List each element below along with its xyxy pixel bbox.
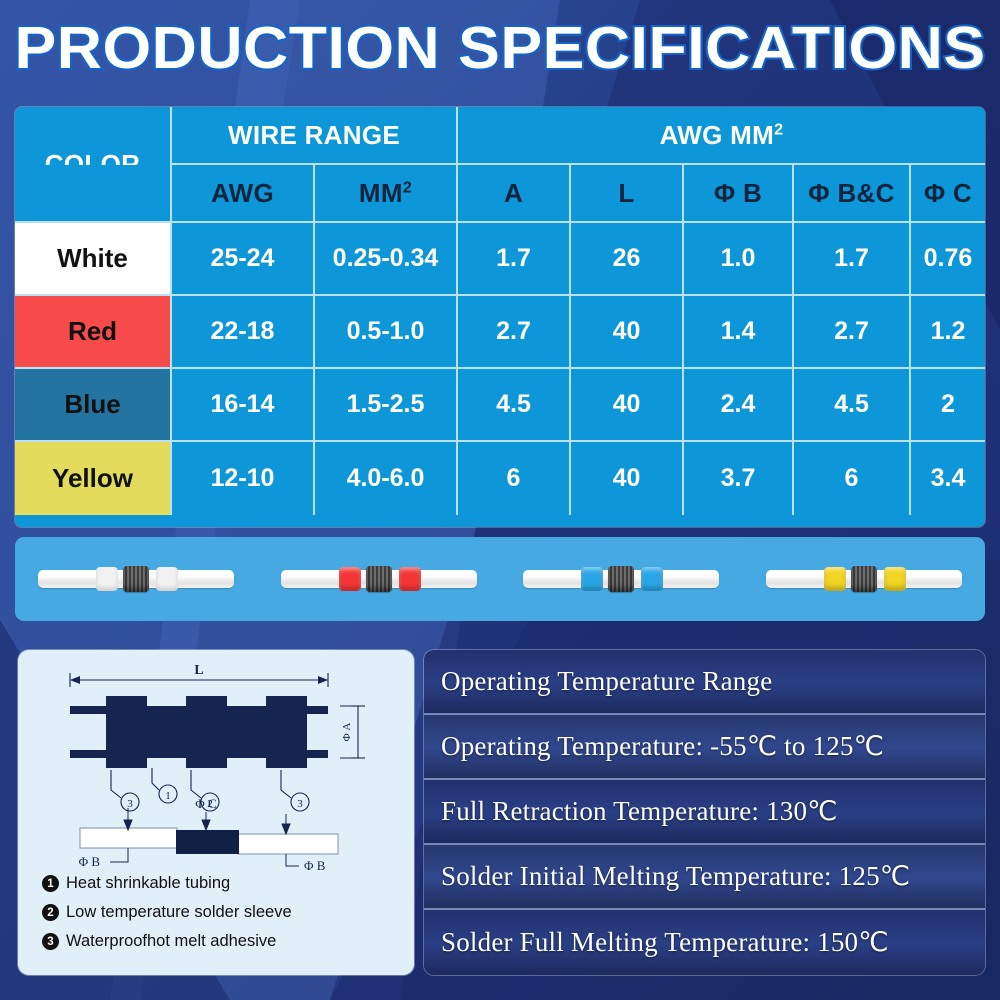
legend-item-label: Low temperature solder sleeve [66, 903, 292, 922]
table-cell-phi-bc: 2.7 [794, 296, 911, 369]
table-cell-phi-bc: 6 [794, 442, 911, 515]
spec-row-label: Solder Full Melting Temperature: 150℃ [441, 927, 889, 958]
table-cell-awg: 12-10 [172, 442, 315, 515]
red-solder-seal-connector [281, 565, 477, 593]
temperature-spec-list: Operating Temperature RangeOperating Tem… [424, 650, 985, 975]
connector-color-band [156, 567, 178, 591]
diagram-label-phi-b-left: Φ B [79, 854, 101, 869]
header-cell-awg-mm2: AWG MM2 [458, 107, 985, 165]
table-cell-mm2: 1.5-2.5 [315, 369, 458, 442]
subheader-label-mm2: MM2 [359, 180, 412, 206]
table-cell-phi-c: 1.2 [911, 296, 985, 369]
connector-solder-ring [366, 566, 392, 592]
connector-color-band [824, 567, 846, 591]
connector-color-band [96, 567, 118, 591]
connector-solder-ring [123, 566, 149, 592]
header-label-awg-mm2: AWG MM2 [660, 120, 784, 151]
table-cell-phi-b: 1.0 [684, 223, 794, 296]
legend-item: 2Low temperature solder sleeve [42, 903, 402, 922]
diagram-label-phi-a: Φ A [341, 723, 353, 742]
color-swatch-label: Yellow [52, 463, 133, 494]
diagram-callout-3b: 3 [297, 798, 303, 810]
connector-solder-ring [851, 566, 877, 592]
spec-row-label: Full Retraction Temperature: 130℃ [441, 796, 838, 827]
subheader-label-awg: AWG [211, 180, 274, 206]
subheader-label-mm2-sup: 2 [403, 178, 412, 196]
subheader-label-phi-bc: Φ B&C [808, 180, 894, 206]
color-swatch-cell: Red [15, 296, 172, 369]
header-label-wire-range: WIRE RANGE [228, 120, 400, 151]
legend-item-label: Waterproofhot melt adhesive [66, 932, 276, 951]
subheader-cell-phi-b: Φ B [684, 165, 794, 223]
table-cell-mm2: 4.0-6.0 [315, 442, 458, 515]
solder-sleeve-diagram: L Φ A [18, 650, 414, 872]
table-row: Red22-180.5-1.02.7401.42.71.2 [15, 296, 985, 369]
page-title: PRODUCTION SPECIFICATIONS [0, 14, 1000, 82]
legend-number-badge: 2 [42, 904, 59, 921]
white-solder-seal-connector [38, 565, 234, 593]
table-cell-phi-b: 3.7 [684, 442, 794, 515]
color-swatch-cell: Blue [15, 369, 172, 442]
page-title-text: PRODUCTION SPECIFICATIONS [14, 14, 985, 82]
table-cell-l: 40 [571, 442, 684, 515]
table-cell-phi-bc: 4.5 [794, 369, 911, 442]
connector-tube-left [38, 570, 134, 588]
spec-row: Operating Temperature Range [424, 650, 985, 715]
connector-tube-right [381, 570, 477, 588]
subheader-label-a: A [504, 180, 523, 206]
connector-color-band [884, 567, 906, 591]
connector-color-band [339, 567, 361, 591]
table-cell-l: 40 [571, 296, 684, 369]
blue-solder-seal-connector [523, 565, 719, 593]
legend-number-badge: 1 [42, 875, 59, 892]
color-swatch-cell: Yellow [15, 442, 172, 515]
spec-row-label: Operating Temperature Range [441, 666, 772, 697]
table-cell-awg: 16-14 [172, 369, 315, 442]
technical-diagram-panel: L Φ A [18, 650, 414, 975]
connector-color-band [581, 567, 603, 591]
connector-tube-left [766, 570, 862, 588]
table-cell-a: 4.5 [458, 369, 571, 442]
table-header-row-1: COLOR WIRE RANGE AWG MM2 [15, 107, 985, 165]
subheader-label-phi-c: Φ C [924, 180, 972, 206]
diagram-label-phi-c: Φ C [195, 796, 216, 811]
subheader-cell-a: A [458, 165, 571, 223]
yellow-solder-seal-connector [766, 565, 962, 593]
color-swatch-label: White [57, 243, 128, 274]
table-cell-phi-b: 2.4 [684, 369, 794, 442]
connector-tube-right [866, 570, 962, 588]
legend-number-badge: 3 [42, 933, 59, 950]
diagram-callout-1: 1 [165, 790, 171, 802]
connector-image-strip [15, 537, 985, 621]
table-row: Yellow12-104.0-6.06403.763.4 [15, 442, 985, 515]
color-swatch-label: Red [68, 316, 117, 347]
table-cell-phi-c: 3.4 [911, 442, 985, 515]
table-cell-phi-c: 0.76 [911, 223, 985, 296]
diagram-label-length: L [194, 663, 203, 678]
subheader-cell-awg: AWG [172, 165, 315, 223]
connector-color-band [641, 567, 663, 591]
table-cell-phi-bc: 1.7 [794, 223, 911, 296]
subheader-label-mm2-text: MM [359, 178, 403, 208]
table-cell-l: 26 [571, 223, 684, 296]
table-cell-phi-c: 2 [911, 369, 985, 442]
legend-item: 1Heat shrinkable tubing [42, 874, 402, 893]
table-cell-awg: 25-24 [172, 223, 315, 296]
subheader-cell-phi-bc: Φ B&C [794, 165, 911, 223]
spec-row: Operating Temperature: -55℃ to 125℃ [424, 715, 985, 780]
table-cell-phi-b: 1.4 [684, 296, 794, 369]
table-cell-l: 40 [571, 369, 684, 442]
connector-tube-left [523, 570, 619, 588]
specification-table: COLOR WIRE RANGE AWG MM2 AWG MM2 A L [15, 107, 985, 527]
header-label-awg-mm2-sup: 2 [774, 120, 783, 138]
table-cell-a: 6 [458, 442, 571, 515]
table-row: Blue16-141.5-2.54.5402.44.52 [15, 369, 985, 442]
connector-tube-right [138, 570, 234, 588]
table-cell-awg: 22-18 [172, 296, 315, 369]
table-row: White25-240.25-0.341.7261.01.70.76 [15, 223, 985, 296]
legend-item: 3Waterproofhot melt adhesive [42, 932, 402, 951]
header-label-awg-mm2-text: AWG MM [660, 120, 774, 150]
connector-tube-left [281, 570, 377, 588]
table-cell-a: 2.7 [458, 296, 571, 369]
connector-tube-right [623, 570, 719, 588]
subheader-label-l: L [618, 180, 634, 206]
subheader-cell-phi-c: Φ C [911, 165, 985, 223]
spec-row: Solder Initial Melting Temperature: 125℃ [424, 845, 985, 910]
table-body: White25-240.25-0.341.7261.01.70.76Red22-… [15, 223, 985, 515]
spec-row-label: Operating Temperature: -55℃ to 125℃ [441, 731, 884, 762]
diagram-label-phi-b-right: Φ B [304, 858, 326, 872]
table-cell-mm2: 0.25-0.34 [315, 223, 458, 296]
diagram-legend: 1Heat shrinkable tubing2Low temperature … [42, 874, 402, 961]
spec-row-label: Solder Initial Melting Temperature: 125℃ [441, 861, 910, 892]
spec-row: Solder Full Melting Temperature: 150℃ [424, 910, 985, 975]
table-cell-a: 1.7 [458, 223, 571, 296]
connector-color-band [399, 567, 421, 591]
table-header-row-2: AWG MM2 A L Φ B Φ B&C Φ C [15, 165, 985, 223]
header-cell-wire-range: WIRE RANGE [172, 107, 458, 165]
color-swatch-cell: White [15, 223, 172, 296]
subheader-cell-l: L [571, 165, 684, 223]
legend-item-label: Heat shrinkable tubing [66, 874, 230, 893]
color-swatch-label: Blue [64, 389, 120, 420]
table-cell-mm2: 0.5-1.0 [315, 296, 458, 369]
spec-row: Full Retraction Temperature: 130℃ [424, 780, 985, 845]
connector-solder-ring [608, 566, 634, 592]
header-cell-color-spacer [15, 165, 172, 223]
subheader-cell-mm2: MM2 [315, 165, 458, 223]
subheader-label-phi-b: Φ B [714, 180, 762, 206]
